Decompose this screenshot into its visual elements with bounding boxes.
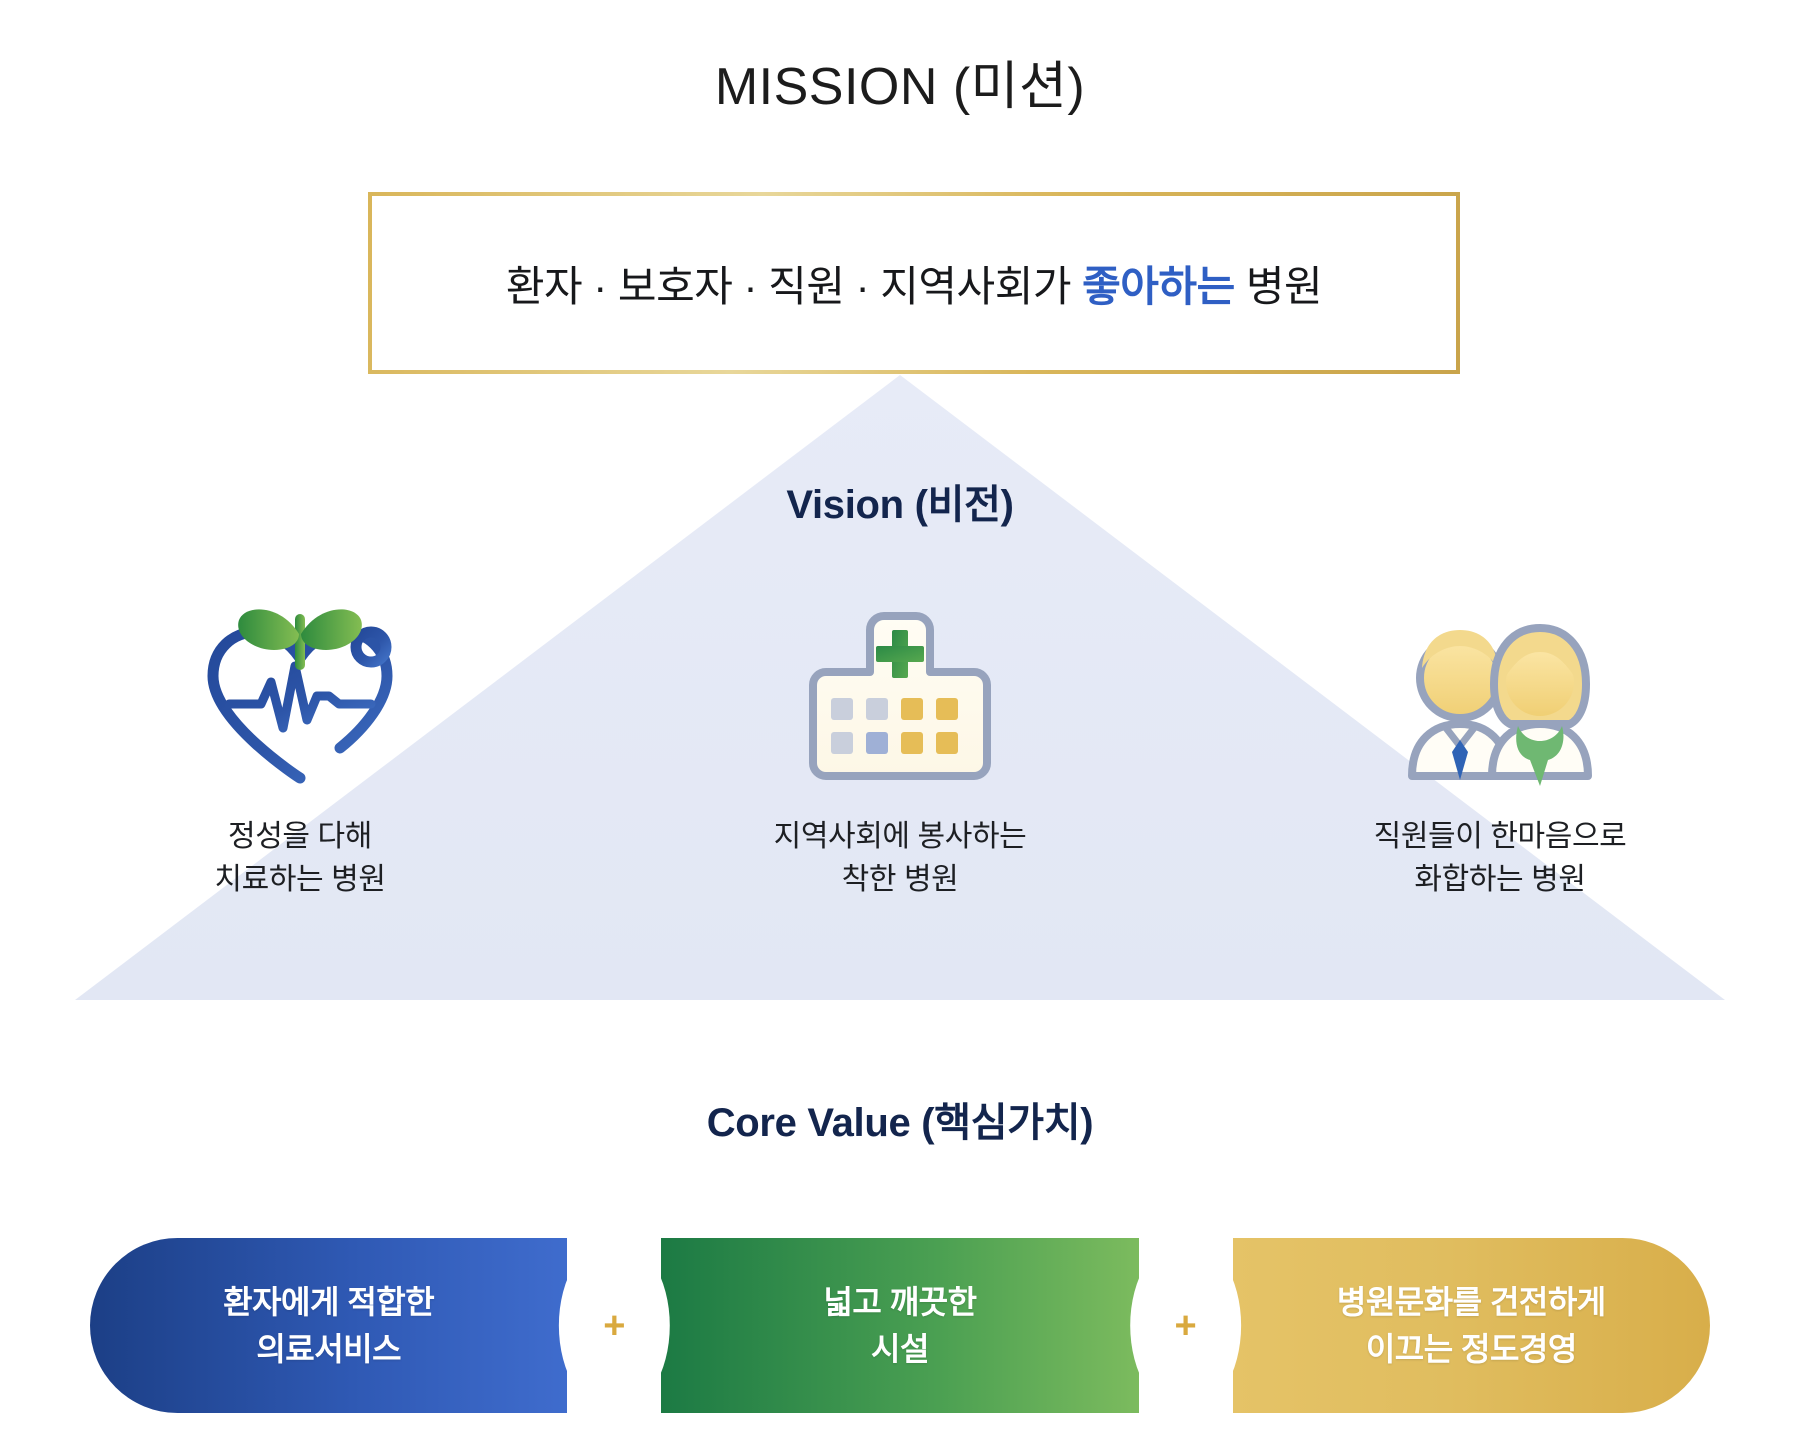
core-value-item-1: 환자에게 적합한 의료서비스 — [90, 1238, 567, 1413]
hospital-building-icon — [800, 600, 1000, 790]
mission-statement-suffix: 병원 — [1235, 263, 1322, 310]
vision-item-1-line1: 정성을 다해 — [214, 816, 385, 859]
mission-vision-core-value-diagram: MISSION (미션) 환자 · 보호자 · 직원 · 지역사회가 좋아하는 … — [0, 0, 1800, 1440]
mission-statement-prefix: 환자 · 보호자 · 직원 · 지역사회가 — [506, 263, 1082, 310]
mission-statement-text: 환자 · 보호자 · 직원 · 지역사회가 좋아하는 병원 — [506, 253, 1322, 314]
vision-item-1-label: 정성을 다해 치료하는 병원 — [214, 816, 385, 901]
vision-item-2-line2: 착한 병원 — [774, 859, 1027, 902]
plus-icon: + — [603, 1307, 625, 1345]
vision-item-2-line1: 지역사회에 봉사하는 — [774, 816, 1027, 859]
core-value-item-3-line2: 이끄는 정도경영 — [1366, 1331, 1577, 1367]
vision-item-3-line1: 직원들이 한마음으로 — [1374, 816, 1627, 859]
vision-item-3-label: 직원들이 한마음으로 화합하는 병원 — [1374, 816, 1627, 901]
two-people-icon — [1390, 600, 1610, 790]
core-value-item-2-line1: 넓고 깨끗한 — [823, 1284, 976, 1320]
mission-statement-highlight: 좋아하는 — [1082, 263, 1235, 310]
vision-item-2-label: 지역사회에 봉사하는 착한 병원 — [774, 816, 1027, 901]
core-value-row: 환자에게 적합한 의료서비스 + 넓고 깨끗한 시설 + 병원문화를 건전하게 … — [90, 1238, 1710, 1413]
core-value-item-3-line1: 병원문화를 건전하게 — [1337, 1284, 1606, 1320]
vision-item-3: 직원들이 한마음으로 화합하는 병원 — [1200, 600, 1800, 940]
vision-item-1: 정성을 다해 치료하는 병원 — [0, 600, 600, 940]
vision-items-row: 정성을 다해 치료하는 병원 — [0, 600, 1800, 940]
vision-item-3-line2: 화합하는 병원 — [1374, 859, 1627, 902]
core-value-item-2-line2: 시설 — [871, 1331, 929, 1367]
core-value-connector-1: + — [566, 1238, 662, 1413]
vision-title: Vision (비전) — [0, 472, 1800, 530]
plus-icon: + — [1175, 1307, 1197, 1345]
mission-title: MISSION (미션) — [0, 44, 1800, 119]
core-value-item-1-line1: 환자에게 적합한 — [223, 1284, 434, 1320]
mission-statement-box: 환자 · 보호자 · 직원 · 지역사회가 좋아하는 병원 — [368, 192, 1460, 374]
vision-item-2: 지역사회에 봉사하는 착한 병원 — [600, 600, 1200, 940]
core-value-connector-2: + — [1138, 1238, 1234, 1413]
core-value-title: Core Value (핵심가치) — [0, 1090, 1800, 1148]
core-value-item-3: 병원문화를 건전하게 이끄는 정도경영 — [1233, 1238, 1710, 1413]
vision-item-1-line2: 치료하는 병원 — [214, 859, 385, 902]
core-value-item-1-line2: 의료서비스 — [256, 1331, 401, 1367]
core-value-item-2: 넓고 깨끗한 시설 — [661, 1238, 1138, 1413]
heart-sprout-icon — [195, 600, 405, 790]
